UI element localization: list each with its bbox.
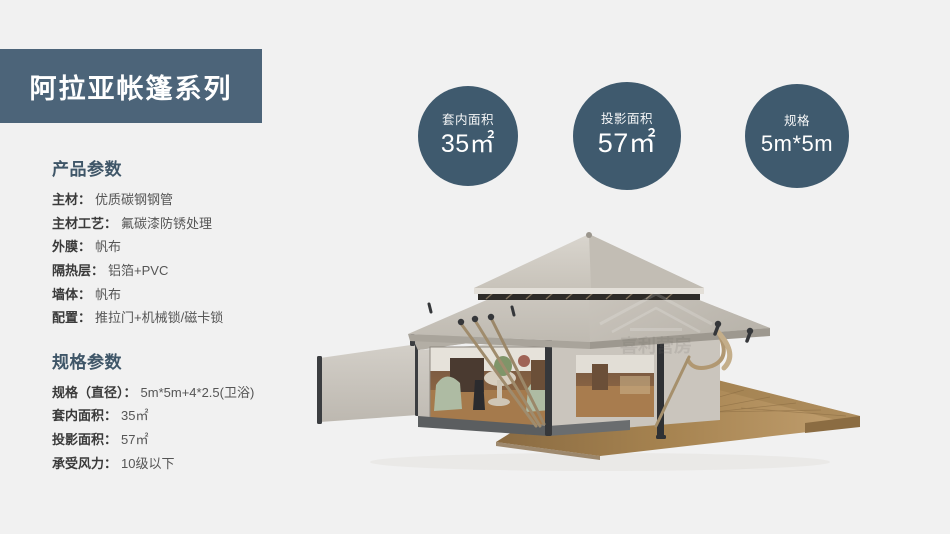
spec-label: 外膜： [52,240,91,254]
spec-value: 优质碳钢钢管 [95,193,173,207]
spec-value: 10级以下 [121,457,174,471]
spec-row: 墙体： 帆布 [52,283,342,307]
stat-badge-label: 规格 [784,115,810,129]
product-spec-page: 阿拉亚帐篷系列 产品参数 主材： 优质碳钢钢管 主材工艺： 氟碳漆防锈处理 外膜… [0,0,950,534]
spec-value: 57㎡ [121,433,148,447]
spec-parameters-group: 规格参数 规格（直径）： 5m*5m+4*2.5(卫浴) 套内面积： 35㎡ 投… [52,348,342,476]
tent-illustration: 喜利营房 [300,230,950,490]
spec-row: 隔热层： 铝箔+PVC [52,259,342,283]
tent-render-svg: 喜利营房 [300,230,950,490]
spec-value: 35㎡ [121,409,148,423]
watermark-text: 喜利营房 [620,335,692,356]
specification-column: 产品参数 主材： 优质碳钢钢管 主材工艺： 氟碳漆防锈处理 外膜： 帆布 隔热层… [52,155,342,475]
page-title: 阿拉亚帐篷系列 [30,67,233,106]
stat-badge-value: 57㎡ [598,128,657,159]
product-parameters-group: 产品参数 主材： 优质碳钢钢管 主材工艺： 氟碳漆防锈处理 外膜： 帆布 隔热层… [52,155,342,330]
spec-parameters-list: 规格（直径）： 5m*5m+4*2.5(卫浴) 套内面积： 35㎡ 投影面积： … [52,381,342,476]
spec-value: 帆布 [95,288,121,302]
spec-value: 氟碳漆防锈处理 [121,217,212,231]
stat-badge-projected-area: 投影面积 57㎡ [573,82,681,190]
stat-badge-label: 套内面积 [442,114,494,128]
roof-cap [474,232,704,294]
spec-value: 帆布 [95,240,121,254]
spec-row: 规格（直径）： 5m*5m+4*2.5(卫浴) [52,381,342,405]
spec-label: 投影面积： [52,433,117,447]
spec-value: 推拉门+机械锁/磁卡锁 [95,311,223,325]
spec-row: 承受风力： 10级以下 [52,452,342,476]
spec-row: 外膜： 帆布 [52,235,342,259]
title-banner: 阿拉亚帐篷系列 [0,49,262,123]
spec-label: 隔热层： [52,264,104,278]
spec-label: 套内面积： [52,409,117,423]
stat-badge-label: 投影面积 [601,113,653,127]
stat-badge-interior-area: 套内面积 35㎡ [418,86,518,186]
spec-label: 配置： [52,311,91,325]
spec-value: 铝箔+PVC [108,264,168,278]
left-canvas-wall [317,342,420,424]
spec-label: 墙体： [52,288,91,302]
spec-label: 承受风力： [52,457,117,471]
product-parameters-list: 主材： 优质碳钢钢管 主材工艺： 氟碳漆防锈处理 外膜： 帆布 隔热层： 铝箔+… [52,188,342,330]
spec-label: 主材工艺： [52,217,117,231]
spec-row: 配置： 推拉门+机械锁/磁卡锁 [52,306,342,330]
stat-badge-dimensions: 规格 5m*5m [745,84,849,188]
stat-badge-value: 5m*5m [761,131,833,156]
spec-row: 投影面积： 57㎡ [52,428,342,452]
spec-parameters-heading: 规格参数 [52,348,342,373]
spec-label: 主材： [52,193,91,207]
spec-row: 主材工艺： 氟碳漆防锈处理 [52,212,342,236]
spec-row: 主材： 优质碳钢钢管 [52,188,342,212]
product-parameters-heading: 产品参数 [52,155,342,180]
spec-row: 套内面积： 35㎡ [52,404,342,428]
spec-label: 规格（直径）： [52,386,137,400]
stat-badge-value: 35㎡ [441,130,495,159]
spec-value: 5m*5m+4*2.5(卫浴) [141,386,255,400]
